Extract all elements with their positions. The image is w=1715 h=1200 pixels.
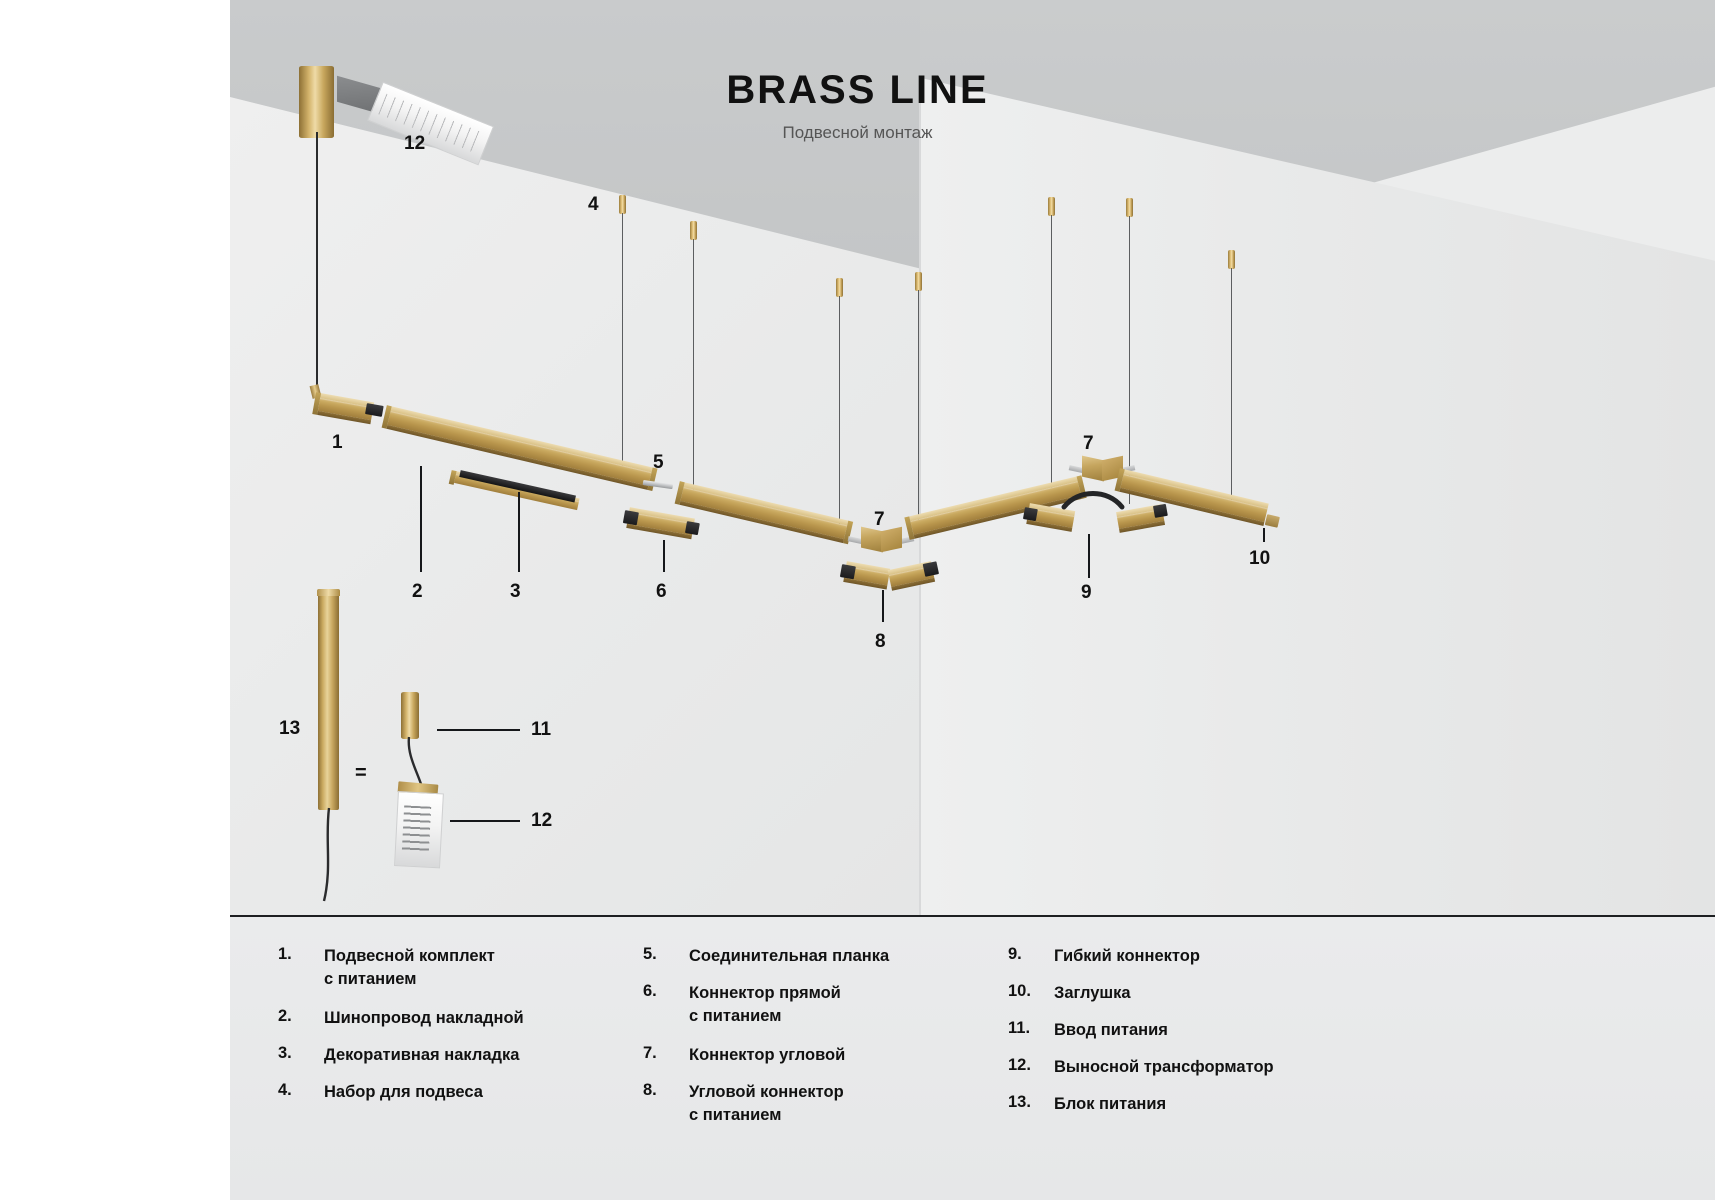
suspension-cable-4 — [918, 290, 919, 522]
power-input-cable-top — [316, 132, 318, 394]
legend-item-label: Декоративная накладка — [324, 1044, 519, 1067]
legend-item-label: Коннектор угловой — [689, 1044, 845, 1067]
callout-10: 10 — [1249, 548, 1270, 570]
suspension-hanger-4 — [915, 272, 922, 291]
callout-9-leader — [1088, 534, 1090, 578]
callout-2-leader — [420, 466, 422, 572]
callout-3-leader — [518, 492, 520, 572]
legend-item-number: 13. — [1008, 1093, 1054, 1116]
callout-5: 5 — [653, 452, 664, 474]
connector8-end-left — [840, 564, 856, 579]
legend-item: 10. Заглушка — [1008, 982, 1131, 1005]
callout-8: 8 — [875, 631, 886, 653]
legend-item-label: Блок питания — [1054, 1093, 1166, 1116]
legend-item-label: Заглушка — [1054, 982, 1131, 1005]
page-title: BRASS LINE — [0, 68, 1715, 113]
legend-item: 4. Набор для подвеса — [278, 1081, 483, 1104]
connector9-end-left — [1023, 507, 1038, 521]
suspension-hanger-7 — [1228, 250, 1235, 269]
legend-item: 6. Коннектор прямой с питанием — [643, 982, 841, 1029]
callout-9: 9 — [1081, 582, 1092, 604]
power-input-cylinder-top — [299, 66, 334, 138]
power-supply-column — [318, 592, 339, 810]
callout-11: 11 — [531, 719, 551, 741]
equals-sign: = — [355, 762, 367, 785]
callout-8-leader — [882, 590, 884, 622]
legend-item-number: 3. — [278, 1044, 324, 1067]
legend-item: 5. Соединительная планка — [643, 945, 889, 968]
legend-item: 9. Гибкий коннектор — [1008, 945, 1200, 968]
suspension-cable-7 — [1231, 268, 1232, 504]
legend-item-number: 1. — [278, 945, 324, 992]
legend-item-label: Угловой коннектор с питанием — [689, 1081, 844, 1128]
legend-item: 12. Выносной трансформатор — [1008, 1056, 1274, 1079]
legend-item: 11. Ввод питания — [1008, 1019, 1168, 1042]
suspension-hanger-5 — [1048, 197, 1055, 216]
callout-12-top: 12 — [404, 133, 425, 155]
suspension-cable-5 — [1051, 215, 1052, 498]
suspension-cable-3 — [839, 296, 840, 526]
callout-6: 6 — [656, 581, 667, 603]
legend-item-number: 8. — [643, 1081, 689, 1128]
remote-transformer-bottom — [394, 791, 444, 868]
power-input-cylinder — [401, 692, 419, 739]
legend-item: 13. Блок питания — [1008, 1093, 1166, 1116]
legend-item: 2. Шинопровод накладной — [278, 1007, 524, 1030]
callout-1: 1 — [332, 432, 343, 454]
legend-item-number: 10. — [1008, 982, 1054, 1005]
legend-item: 1. Подвесной комплект с питанием — [278, 945, 495, 992]
connector9-end-right — [1153, 504, 1168, 518]
connector6-end-black-left — [623, 510, 639, 525]
legend-item-label: Ввод питания — [1054, 1019, 1168, 1042]
callout-3: 3 — [510, 581, 521, 603]
legend-item-number: 5. — [643, 945, 689, 968]
legend-item-label: Набор для подвеса — [324, 1081, 483, 1104]
callout-12-bottom: 12 — [531, 810, 552, 832]
suspension-cable-1 — [622, 213, 623, 475]
legend-item-label: Подвесной комплект с питанием — [324, 945, 495, 992]
legend-item: 3. Декоративная накладка — [278, 1044, 519, 1067]
page-subtitle: Подвесной монтаж — [0, 123, 1715, 143]
legend-item: 8. Угловой коннектор с питанием — [643, 1081, 844, 1128]
callout-10-leader — [1263, 528, 1265, 542]
callout-2: 2 — [412, 581, 423, 603]
callout-13: 13 — [279, 718, 300, 740]
legend-item-label: Шинопровод накладной — [324, 1007, 524, 1030]
legend-item-label: Коннектор прямой с питанием — [689, 982, 841, 1029]
callout-6-leader — [663, 540, 665, 572]
legend-item-number: 7. — [643, 1044, 689, 1067]
suspension-cable-2 — [693, 239, 694, 491]
legend-item-label: Выносной трансформатор — [1054, 1056, 1274, 1079]
legend-item-number: 6. — [643, 982, 689, 1029]
legend-item-number: 9. — [1008, 945, 1054, 968]
legend-item-number: 2. — [278, 1007, 324, 1030]
suspension-hanger-3 — [836, 278, 843, 297]
transformer-vents-bottom — [402, 806, 432, 854]
callout-11-leader — [437, 729, 520, 731]
legend-item-number: 12. — [1008, 1056, 1054, 1079]
suspension-hanger-1 — [619, 195, 626, 214]
legend-panel: 1. Подвесной комплект с питанием 2. Шино… — [230, 917, 1715, 1200]
connector6-end-black-right — [685, 521, 700, 535]
power-supply-column-top — [317, 589, 340, 596]
callout-7-right: 7 — [1083, 433, 1094, 455]
legend-item-number: 11. — [1008, 1019, 1054, 1042]
legend-item-label: Гибкий коннектор — [1054, 945, 1200, 968]
callout-4: 4 — [588, 194, 599, 216]
legend-item: 7. Коннектор угловой — [643, 1044, 845, 1067]
room-corner-edge — [919, 86, 921, 915]
callout-12-leader — [450, 820, 520, 822]
product-diagram-page: BRASS LINE Подвесной монтаж 12 4 1 2 — [0, 0, 1715, 1200]
callout-7-left: 7 — [874, 509, 885, 531]
corner-connector-right-body-a — [1082, 456, 1104, 482]
suspension-hanger-6 — [1126, 198, 1133, 217]
suspension-hanger-2 — [690, 221, 697, 240]
suspension-cable-6 — [1129, 216, 1130, 504]
legend-item-label: Соединительная планка — [689, 945, 889, 968]
legend-item-number: 4. — [278, 1081, 324, 1104]
power-supply-column-cable — [312, 808, 342, 903]
